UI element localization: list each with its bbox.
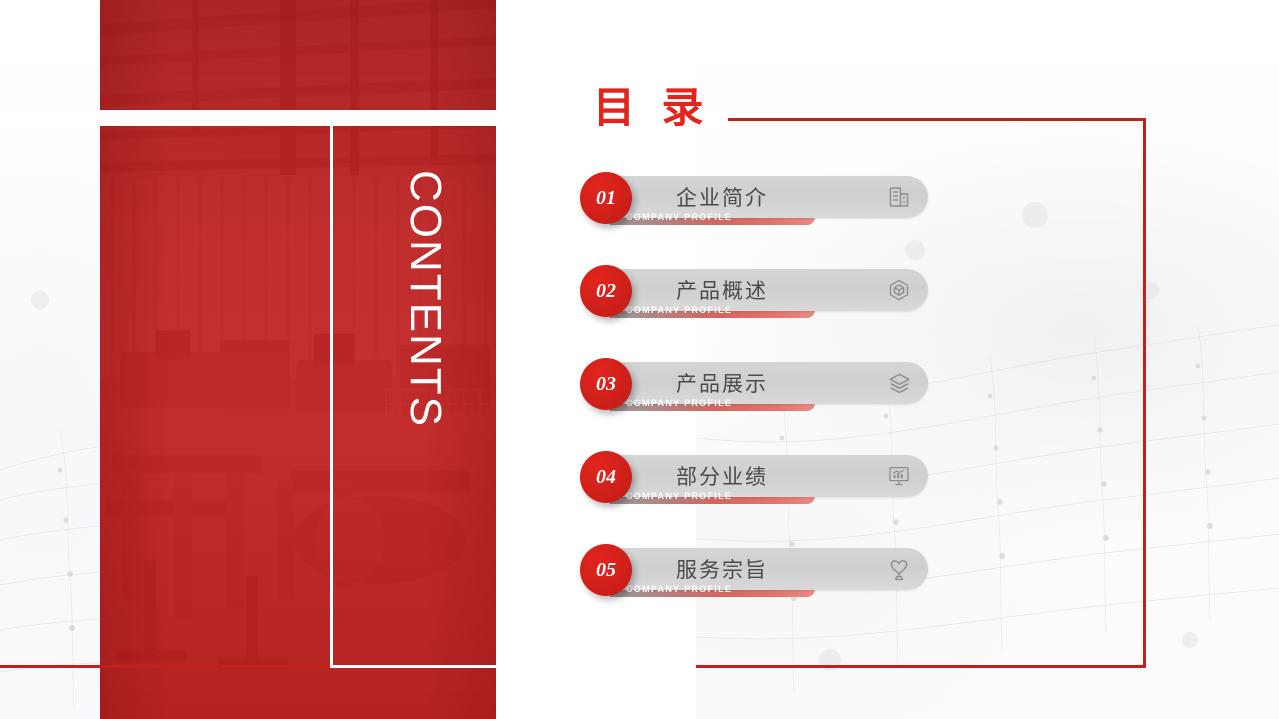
item-title: 产品展示 <box>676 368 768 398</box>
list-item[interactable]: COMPANY PROFILE 服务宗旨 05 <box>580 544 980 616</box>
toc-list: COMPANY PROFILE 企业简介 01 <box>580 172 980 616</box>
item-number-badge: 05 <box>580 544 632 596</box>
list-item[interactable]: COMPANY PROFILE 产品展示 03 <box>580 358 980 430</box>
list-item[interactable]: COMPANY PROFILE 产品概述 02 <box>580 265 980 337</box>
page-title: 目 录 <box>593 88 712 130</box>
item-title: 部分业绩 <box>676 461 768 491</box>
item-number-badge: 04 <box>580 451 632 503</box>
item-subtitle: COMPANY PROFILE <box>626 488 732 504</box>
item-number-badge: 03 <box>580 358 632 410</box>
item-subtitle: COMPANY PROFILE <box>626 302 732 318</box>
list-item[interactable]: COMPANY PROFILE 企业简介 01 <box>580 172 980 244</box>
item-title: 服务宗旨 <box>676 554 768 584</box>
item-number-badge: 02 <box>580 265 632 317</box>
heart-trophy-icon <box>886 556 912 582</box>
contents-side-label: CONTENTS <box>399 170 451 470</box>
item-number: 04 <box>596 466 616 489</box>
building-icon <box>886 184 912 210</box>
layers-icon <box>886 370 912 396</box>
item-title: 产品概述 <box>676 275 768 305</box>
item-number: 05 <box>596 559 616 582</box>
page-title-text: 目 录 <box>593 88 712 130</box>
item-number: 03 <box>596 373 616 396</box>
item-subtitle: COMPANY PROFILE <box>626 395 732 411</box>
list-item[interactable]: COMPANY PROFILE 部分业绩 04 <box>580 451 980 523</box>
slide-root: CONTENTS 目 录 COMPANY PROFILE 企业简介 <box>0 0 1279 719</box>
item-number: 02 <box>596 280 616 303</box>
item-number-badge: 01 <box>580 172 632 224</box>
cube-hexagon-icon <box>886 277 912 303</box>
contents-side-label-text: CONTENTS <box>403 170 447 428</box>
item-subtitle: COMPANY PROFILE <box>626 209 732 225</box>
item-title: 企业简介 <box>676 182 768 212</box>
item-number: 01 <box>596 187 616 210</box>
presentation-chart-icon <box>886 463 912 489</box>
item-subtitle: COMPANY PROFILE <box>626 581 732 597</box>
